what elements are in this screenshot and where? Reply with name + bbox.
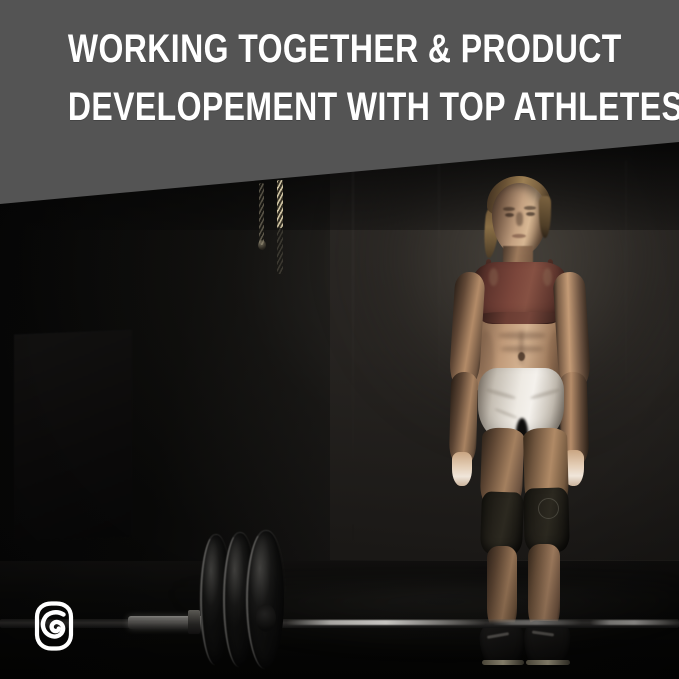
bra-cutout-left bbox=[489, 268, 498, 286]
headline-line-1: WORKING TOGETHER & PRODUCT bbox=[68, 24, 611, 74]
shoe-sole-left bbox=[482, 660, 524, 665]
weight-plate-edge bbox=[246, 530, 286, 669]
banner-image: WORKING TOGETHER & PRODUCT DEVELOPEMENT … bbox=[0, 0, 679, 679]
shoe-sole-right bbox=[526, 660, 570, 665]
mouth bbox=[512, 234, 526, 238]
barbell-highlight bbox=[590, 620, 679, 625]
nose bbox=[516, 212, 523, 226]
eye-right bbox=[526, 212, 535, 216]
hand-left bbox=[452, 452, 472, 486]
headline-line-2: DEVELOPEMENT WITH TOP ATHLETES bbox=[68, 82, 611, 132]
barbell-highlight bbox=[286, 620, 486, 625]
calf-right bbox=[528, 544, 560, 630]
knee-sleeve-logo-icon bbox=[538, 498, 559, 519]
rehband-spiral-logo-icon bbox=[32, 601, 76, 651]
calf-left bbox=[487, 546, 517, 630]
barbell-collar bbox=[188, 610, 200, 634]
barbell-highlight bbox=[492, 620, 582, 625]
navel bbox=[518, 352, 525, 361]
eyebrow-left bbox=[503, 207, 515, 211]
weight-plate-hub bbox=[256, 604, 276, 632]
eye-left bbox=[505, 213, 514, 217]
bra-cutout-right bbox=[543, 268, 552, 286]
page-title: WORKING TOGETHER & PRODUCT DEVELOPEMENT … bbox=[68, 24, 611, 132]
hair-strand bbox=[539, 196, 551, 238]
eyebrow-right bbox=[524, 206, 536, 210]
bra-band bbox=[476, 312, 564, 324]
